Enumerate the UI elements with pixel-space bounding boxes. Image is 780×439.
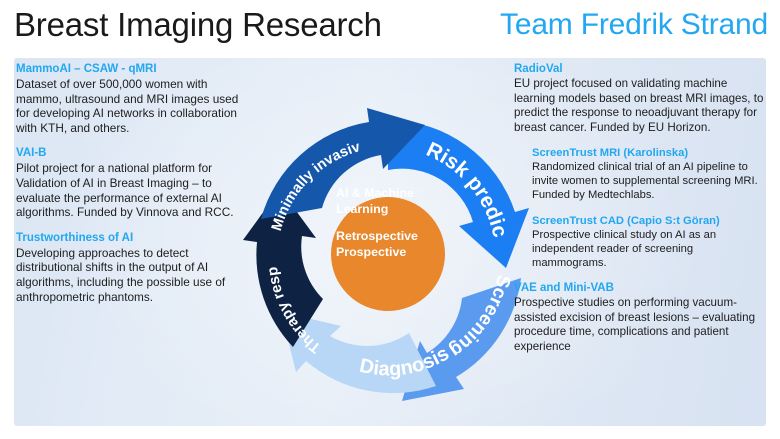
project-body: EU project focused on validating machine… (514, 77, 770, 135)
slide-canvas: Breast Imaging Research Team Fredrik Str… (0, 0, 780, 439)
project-body: Dataset of over 500,000 women with mammo… (16, 77, 248, 135)
team-title: Team Fredrik Strand (500, 8, 768, 42)
project-block-screentrust-mri: ScreenTrust MRI (Karolinska) Randomized … (532, 146, 770, 203)
right-project-column: RadioVal EU project focused on validatin… (514, 62, 770, 365)
project-heading: RadioVal (514, 62, 770, 76)
project-heading: VAE and Mini-VAB (514, 281, 770, 295)
project-block-vaib: VAI-B Pilot project for a national platf… (16, 146, 248, 219)
project-body: Developing approaches to detect distribu… (16, 246, 248, 304)
project-heading: ScreenTrust MRI (Karolinska) (532, 146, 770, 160)
project-block-screentrust-cad: ScreenTrust CAD (Capio S:t Göran) Prospe… (532, 214, 770, 271)
project-block-vae-minivab: VAE and Mini-VAB Prospective studies on … (514, 281, 770, 354)
project-heading: ScreenTrust CAD (Capio S:t Göran) (532, 214, 770, 228)
title-bar: Breast Imaging Research Team Fredrik Str… (0, 0, 780, 56)
project-block-mammoai: MammoAI – CSAW - qMRI Dataset of over 50… (16, 62, 248, 135)
project-block-trustworthiness: Trustworthiness of AI Developing approac… (16, 231, 248, 304)
project-heading: Trustworthiness of AI (16, 231, 248, 245)
left-project-column: MammoAI – CSAW - qMRI Dataset of over 50… (16, 62, 248, 315)
project-body: Pilot project for a national platform fo… (16, 161, 248, 219)
project-block-radioval: RadioVal EU project focused on validatin… (514, 62, 770, 135)
project-body: Prospective clinical study on AI as an i… (532, 229, 770, 271)
project-heading: VAI-B (16, 146, 248, 160)
page-title: Breast Imaging Research (14, 6, 382, 44)
project-body: Prospective studies on performing vacuum… (514, 296, 770, 354)
cycle-hub-circle (331, 197, 445, 311)
project-heading: MammoAI – CSAW - qMRI (16, 62, 248, 76)
research-cycle-diagram: Risk prediction Screening Diagnosis Ther… (240, 56, 536, 436)
project-body: Randomized clinical trial of an AI pipel… (532, 161, 770, 203)
